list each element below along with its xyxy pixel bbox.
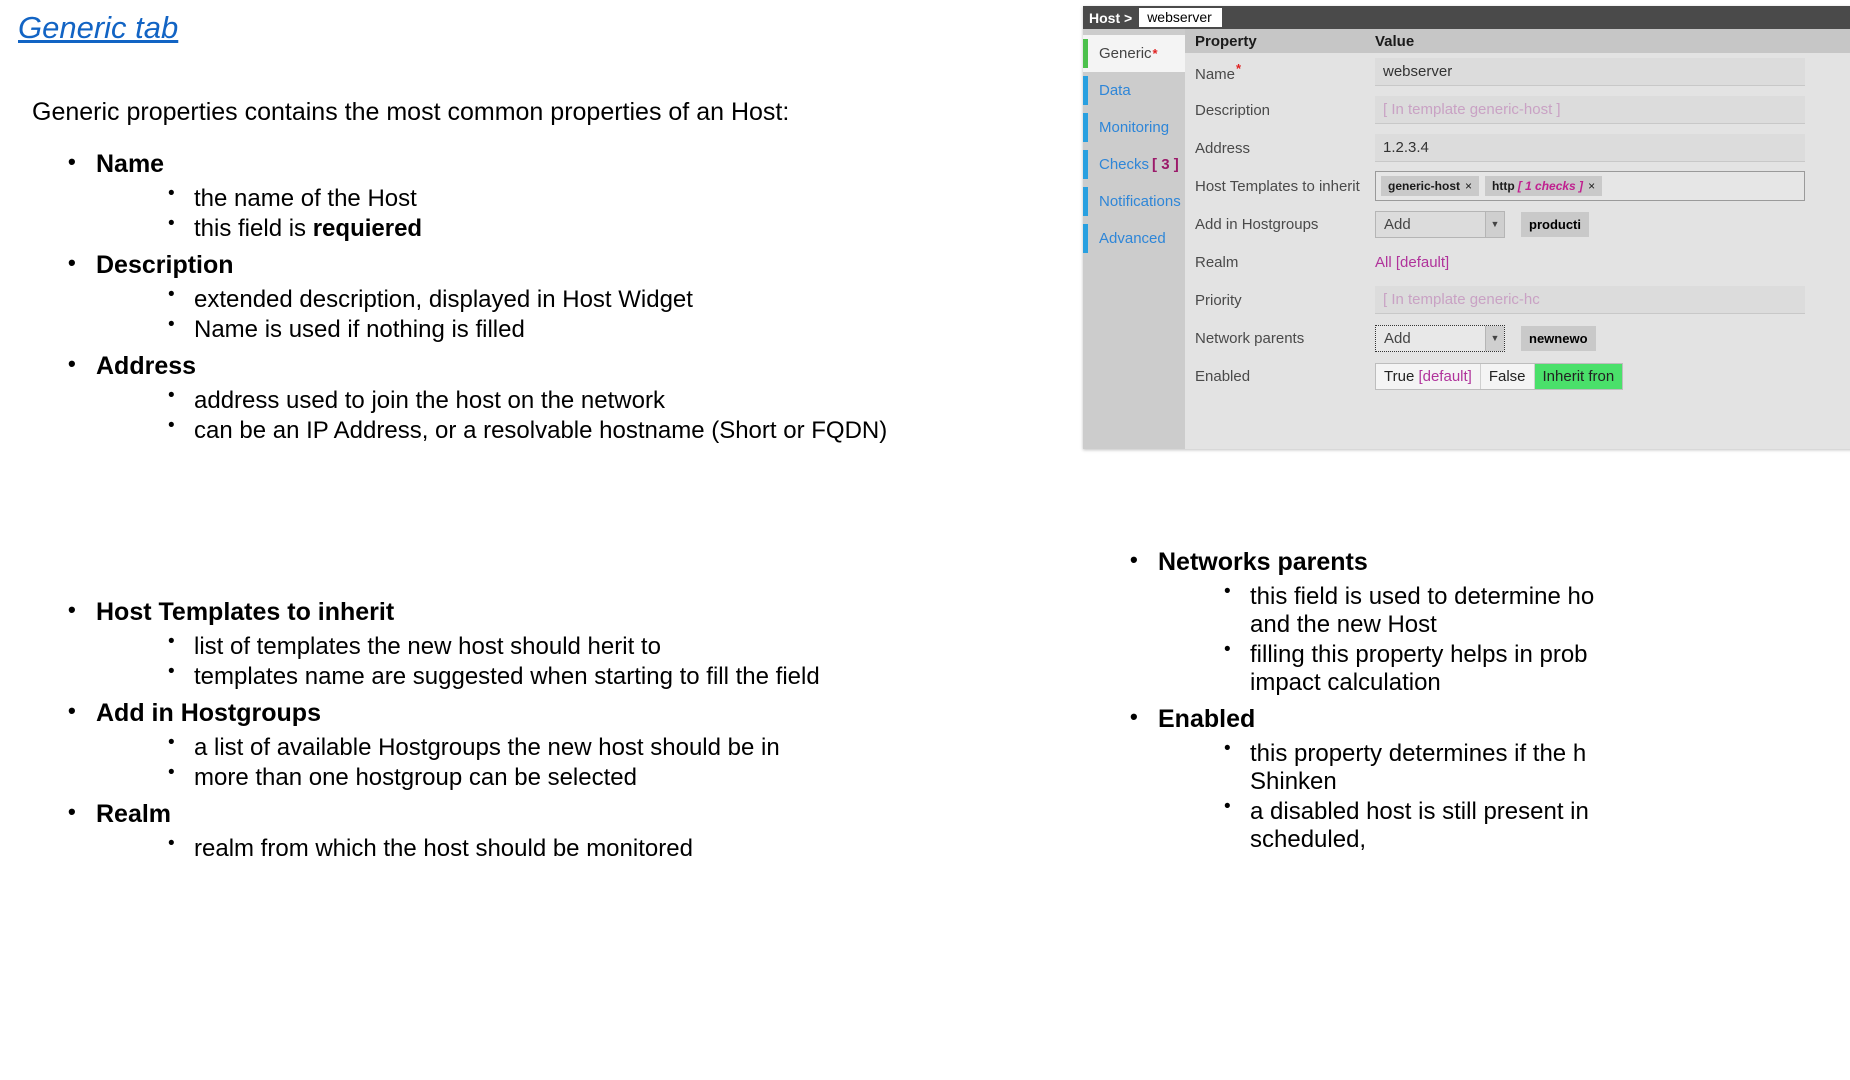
term-label: Add in Hostgroups — [96, 699, 321, 727]
point-text: the name of the Host — [194, 185, 417, 212]
list-item: Address address used to join the host on… — [60, 352, 1070, 445]
list-item: Realm realm from which the host should b… — [60, 800, 1070, 863]
list-item: this property determines if the h Shinke… — [1214, 740, 1850, 796]
field-value: All [default] — [1365, 254, 1850, 271]
list-item: the name of the Host — [158, 185, 1070, 213]
row-address: Address 1.2.3.4 — [1185, 129, 1850, 167]
enabled-option-true[interactable]: True [default] — [1376, 364, 1481, 389]
field-value: Add ▼ producti — [1365, 211, 1850, 238]
list-item: address used to join the host on the net… — [158, 387, 1070, 415]
tab-advanced[interactable]: Advanced — [1083, 220, 1185, 257]
field-label: Address — [1185, 140, 1365, 157]
row-host-templates: Host Templates to inherit generic-host× … — [1185, 167, 1850, 205]
select-value: Add — [1384, 216, 1411, 233]
list-item: a disabled host is still present in sche… — [1214, 798, 1850, 854]
sublist: address used to join the host on the net… — [96, 387, 1070, 445]
hostgroup-chip[interactable]: producti — [1521, 212, 1589, 237]
point-text: this field is — [194, 215, 313, 242]
list-item: Name the name of the Host this field is … — [60, 150, 1070, 243]
point-text: extended description, displayed in Host … — [194, 286, 693, 313]
point-text: address used to join the host on the net… — [194, 387, 665, 414]
sublist: list of templates the new host should he… — [96, 633, 1070, 691]
list-item: list of templates the new host should he… — [158, 633, 1070, 661]
address-input[interactable]: 1.2.3.4 — [1375, 134, 1805, 162]
page-title[interactable]: Generic tab — [18, 10, 178, 46]
tab-label: Notifications — [1099, 193, 1181, 210]
tab-marker-icon — [1083, 113, 1088, 142]
field-value: generic-host× http[ 1 checks ]× — [1365, 171, 1850, 201]
list-item: more than one hostgroup can be selected — [158, 764, 1070, 792]
template-tag[interactable]: http[ 1 checks ]× — [1485, 176, 1602, 196]
property-form: Property Value Name* webserver Descripti… — [1185, 29, 1850, 449]
row-network-parents: Network parents Add ▼ newnewo — [1185, 319, 1850, 357]
column-header-property: Property — [1185, 33, 1365, 50]
sublist: realm from which the host should be moni… — [96, 835, 1070, 863]
realm-value[interactable]: All [default] — [1375, 254, 1449, 271]
field-label: Host Templates to inherit — [1185, 178, 1365, 195]
list-item: this field is used to determine ho and t… — [1214, 583, 1850, 639]
property-list-right: Networks parents this field is used to d… — [1128, 548, 1850, 862]
point-text: filling this property helps in prob — [1250, 641, 1850, 669]
tab-data[interactable]: Data — [1083, 72, 1185, 109]
tab-generic[interactable]: Generic* — [1083, 35, 1185, 72]
point-text: templates name are suggested when starti… — [194, 663, 820, 690]
point-text-continued: scheduled, — [1250, 826, 1850, 854]
list-item: Description extended description, displa… — [60, 251, 1070, 344]
select-value: Add — [1384, 330, 1411, 347]
entity-name-chip[interactable]: webserver — [1139, 8, 1222, 27]
row-description: Description [ In template generic-host ] — [1185, 91, 1850, 129]
term-label: Realm — [96, 800, 171, 828]
list-item: this field is requiered — [158, 215, 1070, 243]
property-list-upper: Name the name of the Host this field is … — [60, 150, 1070, 453]
sublist: a list of available Hostgroups the new h… — [96, 734, 1070, 792]
row-hostgroups: Add in Hostgroups Add ▼ producti — [1185, 205, 1850, 243]
list-item: extended description, displayed in Host … — [158, 286, 1070, 314]
point-text: list of templates the new host should he… — [194, 633, 661, 660]
window-titlebar: Host > webserver — [1083, 6, 1850, 29]
list-item: can be an IP Address, or a resolvable ho… — [158, 417, 1070, 445]
row-realm: Realm All [default] — [1185, 243, 1850, 281]
row-priority: Priority [ In template generic-hc — [1185, 281, 1850, 319]
tab-label: Checks — [1099, 156, 1149, 173]
tag-checks-note: [ 1 checks ] — [1518, 179, 1583, 193]
template-tag[interactable]: generic-host× — [1381, 176, 1479, 196]
list-item: templates name are suggested when starti… — [158, 663, 1070, 691]
field-value: Add ▼ newnewo — [1365, 325, 1850, 352]
field-value: [ In template generic-host ] — [1365, 96, 1850, 124]
remove-tag-icon[interactable]: × — [1588, 179, 1595, 193]
enabled-option-false[interactable]: False — [1481, 364, 1535, 389]
tag-label: http — [1492, 179, 1515, 193]
sublist: this property determines if the h Shinke… — [1158, 740, 1850, 854]
field-label: Realm — [1185, 254, 1365, 271]
hostgroups-select[interactable]: Add ▼ — [1375, 211, 1505, 238]
term-label: Address — [96, 352, 196, 380]
checks-count-badge: [ 3 ] — [1152, 156, 1179, 173]
field-label-text: Name — [1195, 66, 1235, 83]
point-text-continued: and the new Host — [1250, 611, 1850, 639]
point-text: Name is used if nothing is filled — [194, 316, 525, 343]
option-label: True — [1384, 368, 1418, 385]
field-label: Enabled — [1185, 368, 1365, 385]
chevron-down-icon[interactable]: ▼ — [1485, 326, 1504, 351]
field-value: True [default] False Inherit fron — [1365, 363, 1850, 390]
list-item: Name is used if nothing is filled — [158, 316, 1070, 344]
tab-strip: Generic* Data Monitoring Checks[ 3 ] Not… — [1083, 29, 1185, 449]
point-text-continued: impact calculation — [1250, 669, 1850, 697]
option-default-tag: [default] — [1418, 368, 1471, 385]
description-input[interactable]: [ In template generic-host ] — [1375, 96, 1805, 124]
row-name: Name* webserver — [1185, 53, 1850, 91]
tag-label: generic-host — [1388, 179, 1460, 193]
point-text: can be an IP Address, or a resolvable ho… — [194, 417, 887, 444]
list-item: Enabled this property determines if the … — [1128, 705, 1850, 854]
required-asterisk-icon: * — [1236, 61, 1241, 76]
list-item: filling this property helps in prob impa… — [1214, 641, 1850, 697]
term-label: Description — [96, 251, 234, 279]
list-item: Add in Hostgroups a list of available Ho… — [60, 699, 1070, 792]
remove-tag-icon[interactable]: × — [1465, 179, 1472, 193]
term-label: Name — [96, 150, 164, 178]
tab-marker-icon — [1083, 224, 1088, 253]
field-label: Add in Hostgroups — [1185, 216, 1365, 233]
chevron-down-icon[interactable]: ▼ — [1485, 212, 1504, 237]
list-item: Networks parents this field is used to d… — [1128, 548, 1850, 697]
name-input[interactable]: webserver — [1375, 58, 1805, 86]
field-value: 1.2.3.4 — [1365, 134, 1850, 162]
tab-checks[interactable]: Checks[ 3 ] — [1083, 146, 1185, 183]
host-config-window: Host > webserver Generic* Data Monitorin… — [1083, 6, 1850, 449]
tab-marker-icon — [1083, 39, 1088, 68]
row-enabled: Enabled True [default] False Inherit fro… — [1185, 357, 1850, 395]
tab-marker-icon — [1083, 150, 1088, 179]
breadcrumb: Host > — [1089, 10, 1132, 26]
tab-monitoring[interactable]: Monitoring — [1083, 109, 1185, 146]
enabled-option-inherit[interactable]: Inherit fron — [1535, 364, 1623, 389]
list-item: realm from which the host should be moni… — [158, 835, 1070, 863]
point-text: more than one hostgroup can be selected — [194, 764, 637, 791]
host-templates-tagbox[interactable]: generic-host× http[ 1 checks ]× — [1375, 171, 1805, 201]
point-text-continued: Shinken — [1250, 768, 1850, 796]
tab-notifications[interactable]: Notifications — [1083, 183, 1185, 220]
priority-input[interactable]: [ In template generic-hc — [1375, 286, 1805, 314]
tab-marker-icon — [1083, 76, 1088, 105]
column-header-value: Value — [1365, 33, 1850, 50]
point-text: realm from which the host should be moni… — [194, 835, 693, 862]
point-text: a list of available Hostgroups the new h… — [194, 734, 780, 761]
point-emphasis: requiered — [313, 215, 422, 242]
list-item: Host Templates to inherit list of templa… — [60, 598, 1070, 691]
point-text: this property determines if the h — [1250, 740, 1850, 768]
field-label: Description — [1185, 102, 1365, 119]
tab-label: Advanced — [1099, 230, 1166, 247]
list-item: a list of available Hostgroups the new h… — [158, 734, 1070, 762]
field-label: Priority — [1185, 292, 1365, 309]
point-text: this field is used to determine ho — [1250, 583, 1850, 611]
term-label: Host Templates to inherit — [96, 598, 394, 626]
tab-marker-icon — [1083, 187, 1088, 216]
enabled-segmented-control: True [default] False Inherit fron — [1375, 363, 1623, 390]
tab-label: Data — [1099, 82, 1131, 99]
network-parent-chip[interactable]: newnewo — [1521, 326, 1596, 351]
sublist: the name of the Host this field is requi… — [96, 185, 1070, 243]
term-label: Networks parents — [1158, 548, 1368, 576]
network-parents-select[interactable]: Add ▼ — [1375, 325, 1505, 352]
intro-paragraph: Generic properties contains the most com… — [32, 98, 789, 127]
property-list-lower: Host Templates to inherit list of templa… — [60, 598, 1070, 871]
window-body: Generic* Data Monitoring Checks[ 3 ] Not… — [1083, 29, 1850, 449]
point-text: a disabled host is still present in — [1250, 798, 1850, 826]
field-value: [ In template generic-hc — [1365, 286, 1850, 314]
field-value: webserver — [1365, 58, 1850, 86]
tab-label: Generic — [1099, 45, 1152, 62]
sublist: extended description, displayed in Host … — [96, 286, 1070, 344]
sublist: this field is used to determine ho and t… — [1158, 583, 1850, 697]
field-label: Name* — [1185, 61, 1365, 83]
required-asterisk-icon: * — [1153, 46, 1158, 61]
table-header: Property Value — [1185, 29, 1850, 53]
field-label: Network parents — [1185, 330, 1365, 347]
term-label: Enabled — [1158, 705, 1255, 733]
tab-label: Monitoring — [1099, 119, 1169, 136]
